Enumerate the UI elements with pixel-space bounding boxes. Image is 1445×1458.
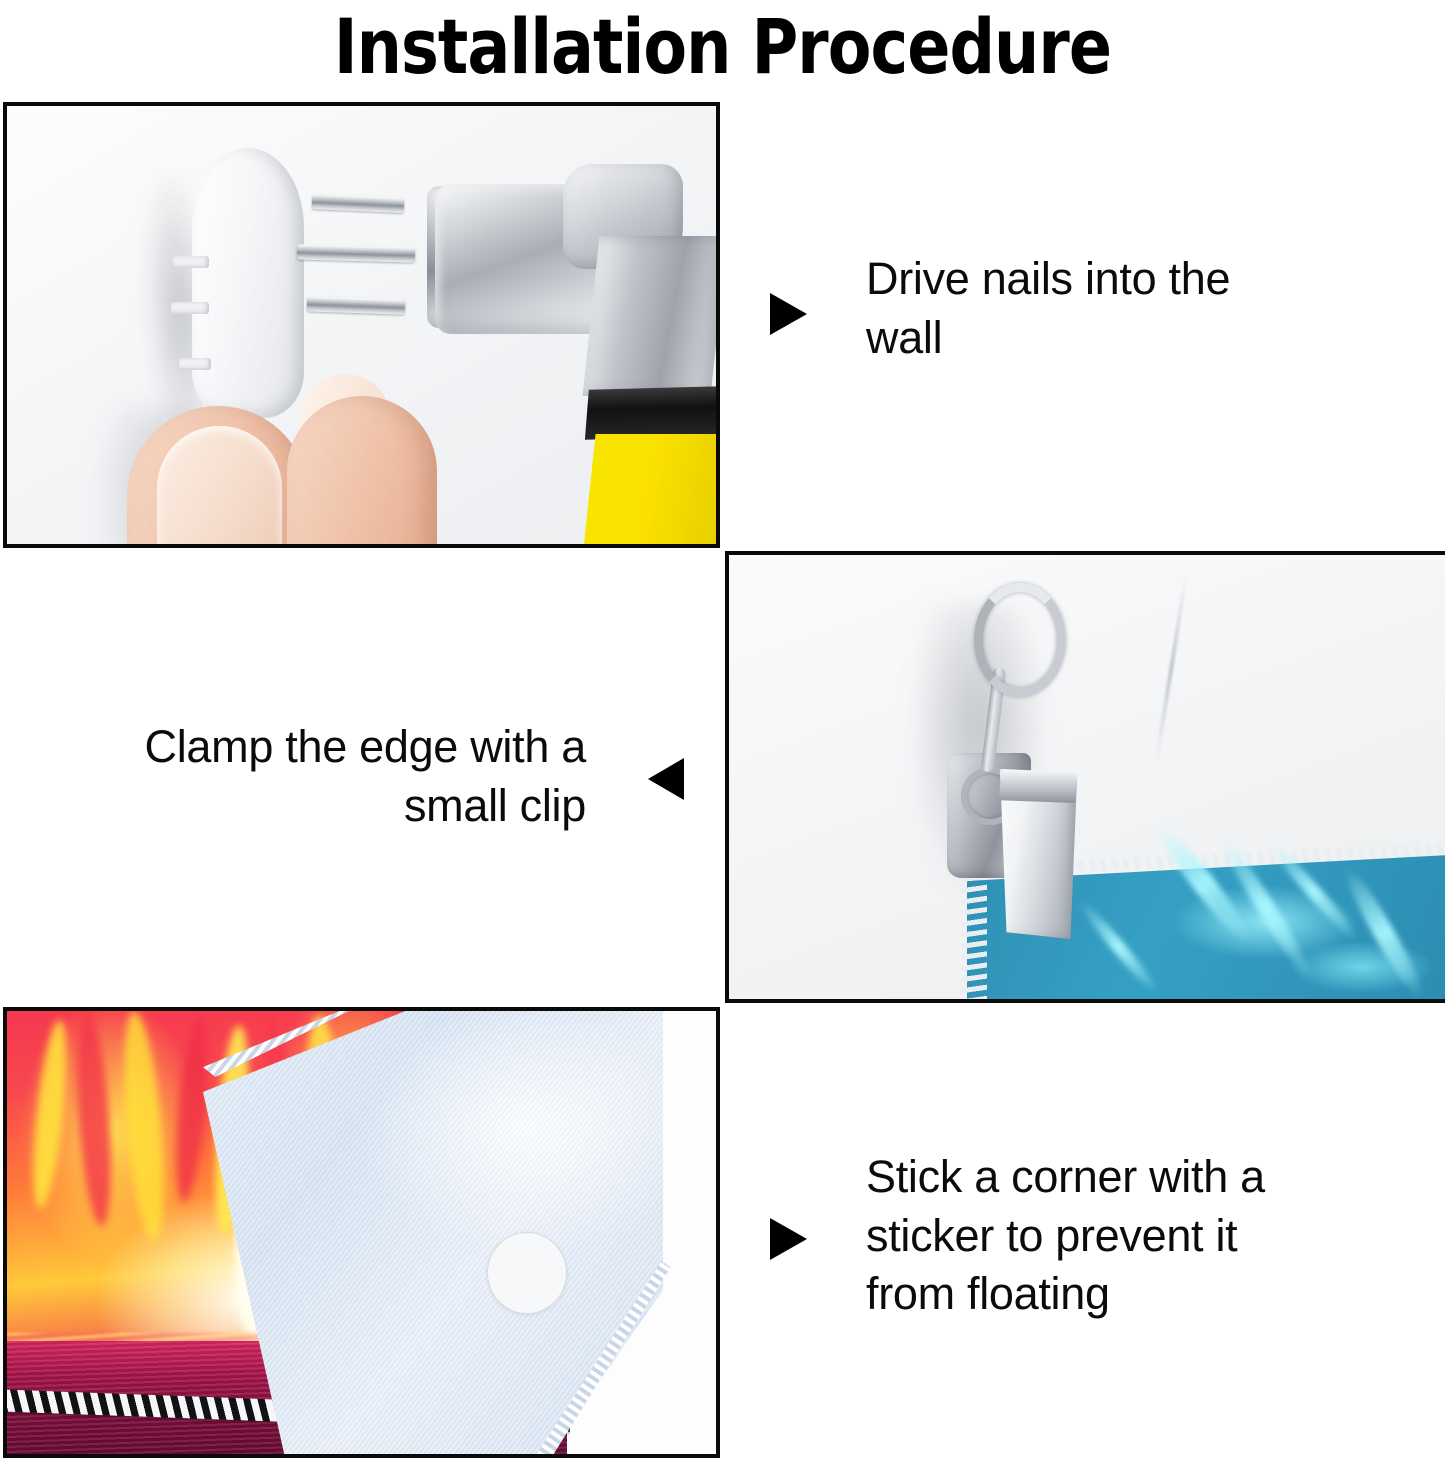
hook-tab: [179, 358, 211, 370]
hook-tab: [171, 302, 209, 314]
sticker-corner-photo: [3, 1007, 720, 1458]
clip-ring: [974, 583, 1066, 697]
triangle-left-icon: [648, 758, 684, 800]
hammer-ferrule: [585, 386, 720, 439]
page-title: Installation Procedure: [51, 0, 1395, 92]
nail-hammer-photo: [3, 102, 720, 548]
index-finger: [287, 396, 437, 548]
hook-tab: [173, 256, 209, 268]
clip-fabric-photo: [725, 551, 1445, 1003]
triangle-right-icon: [770, 1218, 807, 1260]
clip-jaw-top: [997, 769, 1077, 803]
nail: [297, 244, 415, 262]
triangle-right-icon: [770, 293, 807, 335]
hammer-handle: [582, 434, 720, 548]
step-1-caption: Drive nails into the wall: [866, 250, 1286, 367]
photo-clip-scene: [729, 555, 1445, 999]
photo-nail-hammer-scene: [7, 106, 716, 544]
step-3-caption: Stick a corner with a sticker to prevent…: [866, 1148, 1326, 1324]
step-2-caption: Clamp the edge with a small clip: [78, 718, 586, 835]
hammer-shaft: [583, 236, 720, 396]
adhesive-hook: [192, 148, 304, 418]
adhesive-sticker: [487, 1232, 567, 1314]
photo-sticker-scene: [7, 1011, 716, 1454]
thumbnail: [157, 426, 282, 548]
